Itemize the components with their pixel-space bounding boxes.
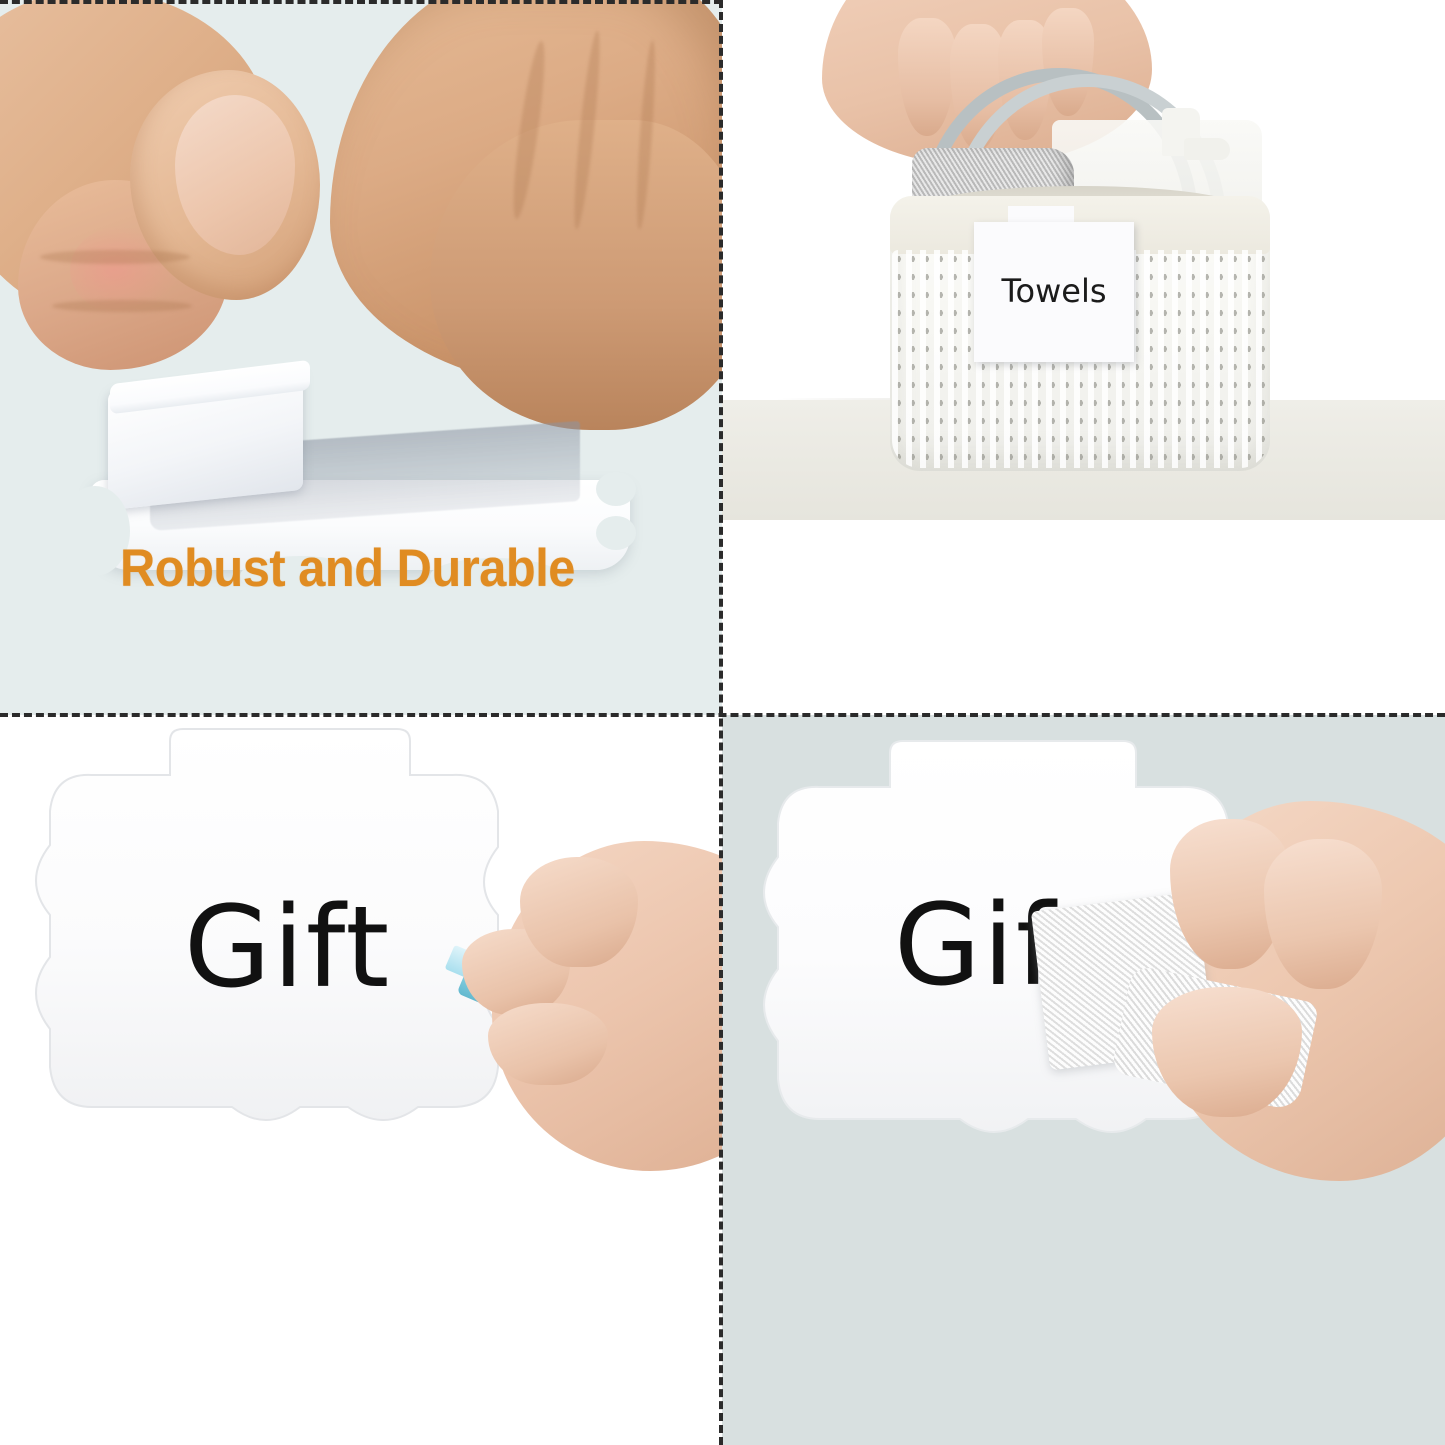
panel-easy-to-erase-and-reusable: Gif Easy to Erase and Reusable: [722, 715, 1445, 1445]
scene-hand-bending-label: [0, 0, 722, 520]
caption-robust-and-durable: Robust and Durable: [120, 528, 575, 610]
panel-easy-to-install-and-remove: Towels Easy to Install and Remove: [722, 0, 1445, 715]
middle-finger: [488, 1003, 608, 1085]
label-notch: [596, 516, 636, 550]
handwritten-text-partially-erased: Gif: [894, 881, 1057, 1011]
divider-vertical-dashed: [719, 0, 723, 1445]
scene-writing-on-label: Gift: [0, 715, 722, 1230]
skin-crease: [52, 300, 192, 312]
panel-robust-and-durable: Robust and Durable: [0, 0, 722, 715]
product-feature-collage: Robust and Durable Towels: [0, 0, 1445, 1445]
scene-basket-with-label: Towels: [722, 0, 1445, 520]
divider-top-dashed: [0, 0, 722, 4]
divider-horizontal-dashed: [0, 713, 1445, 717]
label-notch: [596, 472, 636, 506]
panel-smooth-surface-is-easy-to-mark: Gift Smooth Surface is Easy to Mark: [0, 715, 722, 1445]
handwritten-text-gift: Gift: [184, 883, 391, 1013]
spray-bottle-trigger: [1184, 138, 1230, 160]
skin-crease: [40, 250, 190, 264]
label-card: Towels: [974, 222, 1134, 362]
scene-erasing-label: Gif: [722, 715, 1445, 1215]
thumb: [520, 857, 638, 967]
label-card-text: Towels: [974, 272, 1134, 310]
